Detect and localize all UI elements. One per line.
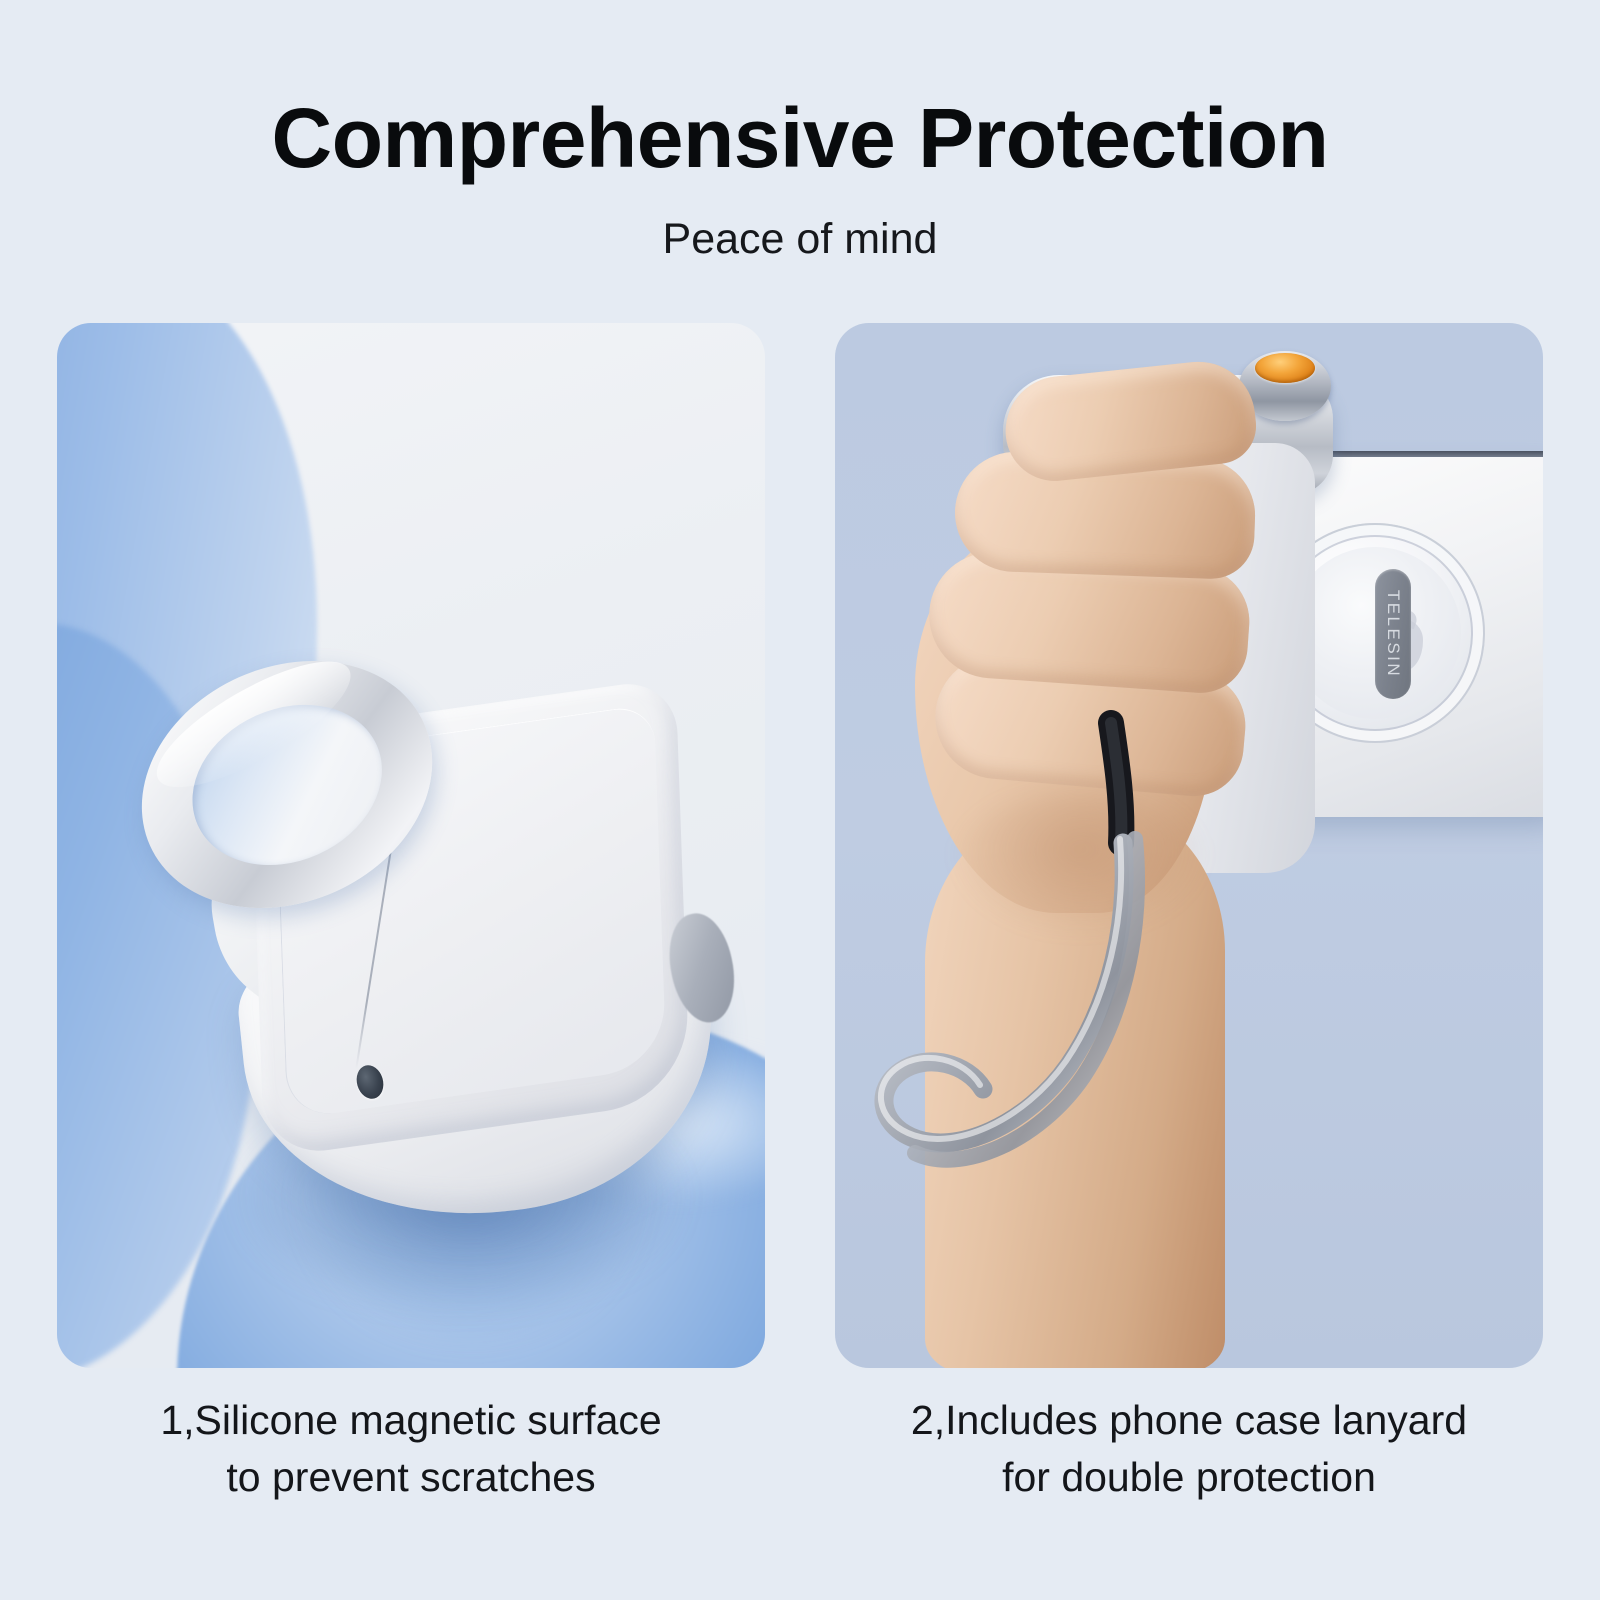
wrist-shading [955, 793, 1205, 933]
page-header: Comprehensive Protection Peace of mind [0, 0, 1600, 261]
caption-line-2: for double protection [835, 1449, 1543, 1506]
feature-panels: TELESIN [57, 323, 1543, 1368]
product-image-silicone-surface [57, 323, 765, 1368]
page-title: Comprehensive Protection [0, 96, 1600, 180]
caption-silicone-surface: 1,Silicone magnetic surface to prevent s… [57, 1392, 765, 1505]
caption-lanyard: 2,Includes phone case lanyard for double… [835, 1392, 1543, 1505]
caption-line-2: to prevent scratches [57, 1449, 765, 1506]
page-subtitle: Peace of mind [0, 180, 1600, 261]
caption-line-1: 1,Silicone magnetic surface [57, 1392, 765, 1449]
caption-line-1: 2,Includes phone case lanyard [835, 1392, 1543, 1449]
brand-badge-label: TELESIN [1383, 590, 1403, 678]
caption-row: 1,Silicone magnetic surface to prevent s… [57, 1392, 1543, 1505]
silicone-grip-product [95, 613, 735, 1233]
brand-badge: TELESIN [1375, 569, 1411, 699]
product-image-lanyard-in-use: TELESIN [835, 323, 1543, 1368]
